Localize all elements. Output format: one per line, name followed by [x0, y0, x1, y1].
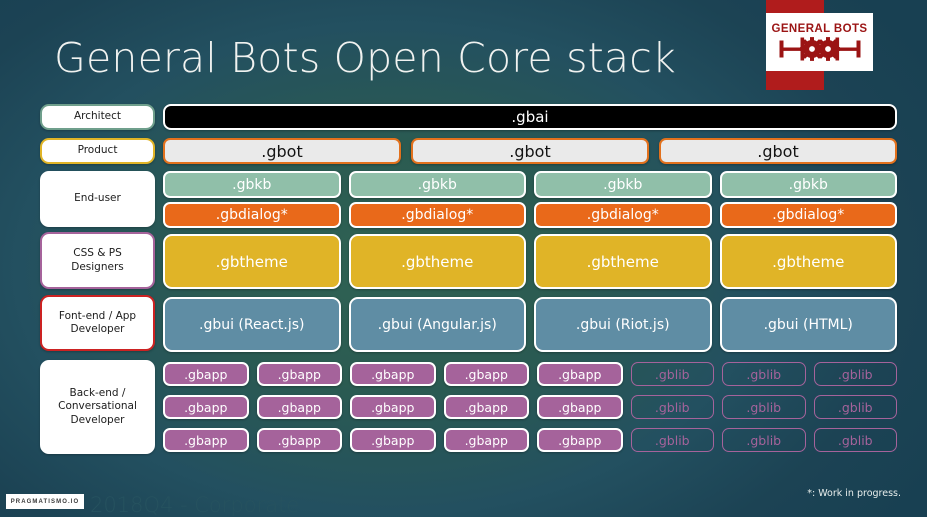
block-gbtheme[interactable]: .gbtheme — [720, 234, 898, 289]
block-gbtheme[interactable]: .gbtheme — [534, 234, 712, 289]
block-label: .gbapp — [371, 400, 414, 415]
block-gblib[interactable]: .gblib — [814, 395, 898, 419]
block-gbtheme[interactable]: .gbtheme — [163, 234, 341, 289]
block-label: .gbtheme — [587, 253, 659, 271]
block-label: .gbapp — [465, 367, 508, 382]
block-label: .gbui (Riot.js) — [576, 317, 670, 333]
block-label: .gblib — [838, 433, 873, 448]
row-gbapp-gblib-2: .gbapp .gbapp .gbapp .gbapp .gbapp .gbli… — [163, 395, 897, 419]
role-label-text: Product — [78, 144, 118, 157]
block-gbapp[interactable]: .gbapp — [257, 362, 343, 386]
block-gbapp[interactable]: .gbapp — [444, 395, 530, 419]
block-label: .gbai — [511, 108, 548, 126]
block-label: .gbapp — [371, 367, 414, 382]
role-label-text: End-user — [74, 192, 121, 205]
block-label: .gbapp — [184, 433, 227, 448]
row-gbkb: .gbkb .gbkb .gbkb .gbkb — [163, 171, 897, 198]
deck-label: 2018Q4 - Corporate — [90, 493, 299, 517]
block-gbapp[interactable]: .gbapp — [537, 395, 623, 419]
block-label: .gblib — [838, 367, 873, 382]
role-label-end-user: End-user — [40, 171, 155, 227]
block-gbkb[interactable]: .gbkb — [163, 171, 341, 198]
page-title: General Bots Open Core stack — [54, 34, 676, 82]
block-gbui-angular[interactable]: .gbui (Angular.js) — [349, 297, 527, 352]
block-label: .gblib — [655, 367, 690, 382]
block-gblib[interactable]: .gblib — [722, 362, 806, 386]
block-label: .gbkb — [789, 177, 828, 193]
block-label: .gbot — [261, 142, 302, 161]
block-label: .gbapp — [465, 400, 508, 415]
block-label: .gbdialog* — [587, 207, 659, 223]
block-gbapp[interactable]: .gbapp — [350, 362, 436, 386]
row-gbapp-gblib-3: .gbapp .gbapp .gbapp .gbapp .gbapp .gbli… — [163, 428, 897, 452]
block-gbkb[interactable]: .gbkb — [534, 171, 712, 198]
block-label: .gbapp — [558, 367, 601, 382]
block-label: .gbapp — [278, 433, 321, 448]
block-gbapp[interactable]: .gbapp — [163, 395, 249, 419]
row-gbot: .gbot .gbot .gbot — [163, 138, 897, 164]
block-gblib[interactable]: .gblib — [814, 362, 898, 386]
block-label: .gbtheme — [772, 253, 844, 271]
row-gbapp-gblib-1: .gbapp .gbapp .gbapp .gbapp .gbapp .gbli… — [163, 362, 897, 386]
block-gblib[interactable]: .gblib — [631, 428, 715, 452]
block-gbdialog[interactable]: .gbdialog* — [163, 202, 341, 228]
block-label: .gbot — [757, 142, 798, 161]
block-label: .gblib — [655, 400, 690, 415]
block-gbapp[interactable]: .gbapp — [257, 428, 343, 452]
block-gblib[interactable]: .gblib — [722, 428, 806, 452]
block-label: .gbtheme — [401, 253, 473, 271]
block-label: .gbapp — [184, 367, 227, 382]
block-gbdialog[interactable]: .gbdialog* — [349, 202, 527, 228]
role-label-text: CSS & PS Designers — [71, 247, 124, 273]
role-label-text: Font-end / App Developer — [59, 310, 136, 336]
row-gbdialog: .gbdialog* .gbdialog* .gbdialog* .gbdial… — [163, 202, 897, 228]
general-bots-logo: GENERAL BOTS — [766, 13, 873, 71]
block-label: .gbapp — [371, 433, 414, 448]
pragmatismo-logo-text: PRAGMATISMO.IO — [11, 499, 80, 505]
block-label: .gbui (HTML) — [764, 317, 853, 333]
block-gbapp[interactable]: .gbapp — [350, 428, 436, 452]
block-gbapp[interactable]: .gbapp — [444, 362, 530, 386]
two-gears-icon — [774, 36, 866, 62]
block-label: .gblib — [746, 367, 781, 382]
block-label: .gbapp — [465, 433, 508, 448]
block-label: .gbkb — [418, 177, 457, 193]
block-gbapp[interactable]: .gbapp — [163, 428, 249, 452]
work-in-progress-note: *: Work in progress. — [807, 488, 901, 499]
block-label: .gbapp — [278, 400, 321, 415]
block-label: .gbkb — [232, 177, 271, 193]
block-label: .gbot — [509, 142, 550, 161]
block-gblib[interactable]: .gblib — [631, 362, 715, 386]
block-gbapp[interactable]: .gbapp — [257, 395, 343, 419]
block-label: .gbui (React.js) — [199, 317, 304, 333]
row-gbtheme: .gbtheme .gbtheme .gbtheme .gbtheme — [163, 234, 897, 289]
block-gbapp[interactable]: .gbapp — [537, 362, 623, 386]
block-label: .gbapp — [184, 400, 227, 415]
block-label: .gbtheme — [216, 253, 288, 271]
block-gbtheme[interactable]: .gbtheme — [349, 234, 527, 289]
role-label-css-ps-designers: CSS & PS Designers — [40, 232, 155, 289]
slide-canvas: GENERAL BOTS — [0, 0, 927, 517]
block-gblib[interactable]: .gblib — [814, 428, 898, 452]
block-gbot[interactable]: .gbot — [659, 138, 897, 164]
block-label: .gbdialog* — [216, 207, 288, 223]
block-gblib[interactable]: .gblib — [722, 395, 806, 419]
block-gbot[interactable]: .gbot — [163, 138, 401, 164]
role-label-text: Back-end / Conversational Developer — [58, 387, 137, 426]
role-label-text: Architect — [74, 110, 121, 123]
block-label: .gbapp — [558, 400, 601, 415]
block-gblib[interactable]: .gblib — [631, 395, 715, 419]
block-label: .gblib — [746, 433, 781, 448]
block-gbdialog[interactable]: .gbdialog* — [720, 202, 898, 228]
pragmatismo-logo: PRAGMATISMO.IO — [6, 494, 84, 509]
row-gbai: .gbai — [163, 104, 897, 130]
block-gbui-react[interactable]: .gbui (React.js) — [163, 297, 341, 352]
block-label: .gbui (Angular.js) — [378, 317, 497, 333]
block-label: .gbkb — [603, 177, 642, 193]
block-gbai[interactable]: .gbai — [163, 104, 897, 130]
role-label-frontend-app-developer: Font-end / App Developer — [40, 295, 155, 351]
block-gbui-html[interactable]: .gbui (HTML) — [720, 297, 898, 352]
block-label: .gbdialog* — [772, 207, 844, 223]
logo-brand-text: GENERAL BOTS — [772, 23, 868, 35]
role-label-backend-conversational-developer: Back-end / Conversational Developer — [40, 360, 155, 454]
row-gbui: .gbui (React.js) .gbui (Angular.js) .gbu… — [163, 297, 897, 352]
footer: PRAGMATISMO.IO 2018Q4 - Corporate *: Wor… — [0, 481, 927, 517]
block-label: .gbapp — [558, 433, 601, 448]
block-label: .gbapp — [278, 367, 321, 382]
block-label: .gblib — [746, 400, 781, 415]
block-gbdialog[interactable]: .gbdialog* — [534, 202, 712, 228]
block-gbkb[interactable]: .gbkb — [349, 171, 527, 198]
block-gbui-riot[interactable]: .gbui (Riot.js) — [534, 297, 712, 352]
block-label: .gblib — [838, 400, 873, 415]
role-label-product: Product — [40, 138, 155, 164]
block-gbot[interactable]: .gbot — [411, 138, 649, 164]
block-label: .gbdialog* — [401, 207, 473, 223]
block-gbapp[interactable]: .gbapp — [350, 395, 436, 419]
block-label: .gblib — [655, 433, 690, 448]
block-gbkb[interactable]: .gbkb — [720, 171, 898, 198]
block-gbapp[interactable]: .gbapp — [537, 428, 623, 452]
block-gbapp[interactable]: .gbapp — [444, 428, 530, 452]
role-label-architect: Architect — [40, 104, 155, 130]
block-gbapp[interactable]: .gbapp — [163, 362, 249, 386]
